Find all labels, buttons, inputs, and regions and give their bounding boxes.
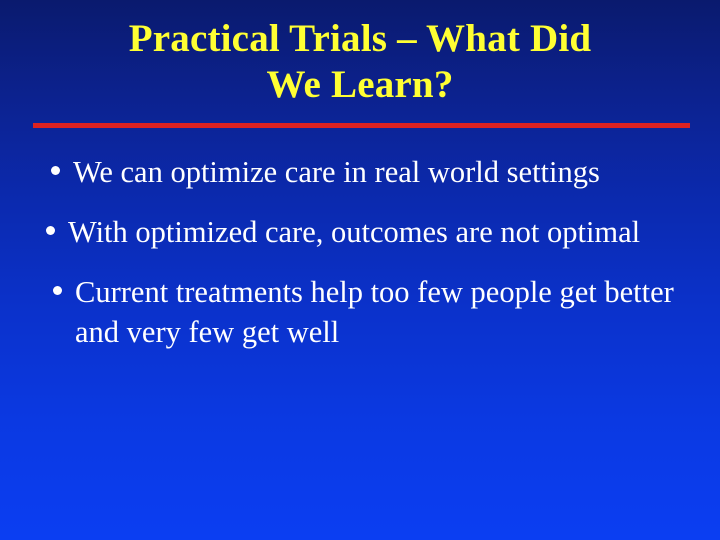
slide-title-line-2: We Learn? <box>0 62 720 108</box>
bullet-list-item: Current treatments help too few people g… <box>0 272 720 352</box>
bullet-point-icon <box>46 226 55 235</box>
bullet-point-icon <box>51 166 60 175</box>
bullet-item-text: With optimized care, outcomes are not op… <box>68 215 640 249</box>
bullet-list-item: With optimized care, outcomes are not op… <box>0 212 720 252</box>
bullet-list-item: We can optimize care in real world setti… <box>0 152 720 192</box>
slide-title: Practical Trials – What Did We Learn? <box>0 16 720 108</box>
bullet-item-text: Current treatments help too few people g… <box>75 275 674 349</box>
presentation-slide: Practical Trials – What Did We Learn? We… <box>0 0 720 540</box>
bullet-point-icon <box>53 286 62 295</box>
slide-title-line-1: Practical Trials – What Did <box>0 16 720 62</box>
slide-bullet-list: We can optimize care in real world setti… <box>0 152 720 352</box>
title-divider-rule <box>33 123 690 128</box>
bullet-item-text: We can optimize care in real world setti… <box>73 155 600 189</box>
